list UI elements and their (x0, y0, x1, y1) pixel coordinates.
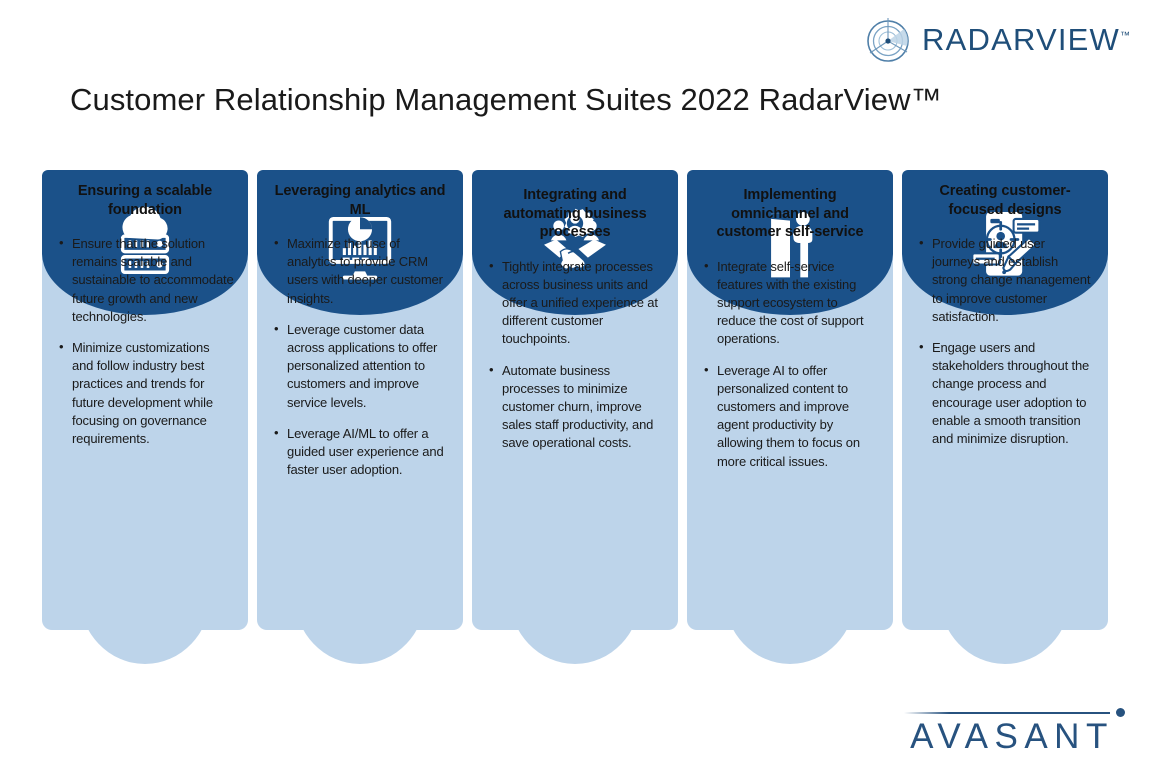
card-strip: Ensuring a scalable foundation Ensure th… (42, 170, 1112, 630)
card-bullet-list: Maximize the use of analytics to provide… (269, 235, 451, 479)
card-heading: Integrating and automating business proc… (486, 186, 664, 242)
list-item: Minimize customizations and follow indus… (58, 339, 234, 448)
card-bullet-list: Tightly integrate processes across busin… (484, 258, 666, 453)
card-implementing-omnichannel-self-service: Implementing omnichannel and customer se… (687, 170, 893, 630)
card-body: Integrating and automating business proc… (472, 170, 678, 630)
avasant-underline-dot-icon (898, 707, 1126, 719)
card-leveraging-analytics-and-ml: Leveraging analytics and ML Maximize the… (257, 170, 463, 630)
card-heading: Leveraging analytics and ML (271, 182, 449, 219)
card-body: Implementing omnichannel and customer se… (687, 170, 893, 630)
card-bullet-list: Integrate self-service features with the… (699, 258, 881, 471)
radar-target-icon (864, 16, 912, 64)
card-creating-customer-focused-designs: Creating customer-focused designs Provid… (902, 170, 1108, 630)
avasant-rule (904, 712, 1110, 714)
card-heading: Implementing omnichannel and customer se… (701, 186, 879, 242)
list-item: Automate business processes to minimize … (488, 362, 664, 453)
list-item: Ensure that the solution remains scalabl… (58, 235, 234, 326)
radarview-wordmark: RADARVIEW™ (922, 22, 1130, 58)
card-body: Leveraging analytics and ML Maximize the… (257, 170, 463, 630)
list-item: Provide guided user journeys and establi… (918, 235, 1094, 326)
avasant-wordmark: AVASANT (898, 719, 1126, 756)
card-integrating-automating-processes: Integrating and automating business proc… (472, 170, 678, 630)
slide-root: RADARVIEW™ Customer Relationship Managem… (0, 0, 1152, 768)
list-item: Leverage customer data across applicatio… (273, 321, 449, 412)
card-bullet-list: Ensure that the solution remains scalabl… (54, 235, 236, 448)
page-title: Customer Relationship Management Suites … (70, 82, 942, 118)
radarview-logo: RADARVIEW™ (864, 16, 1130, 64)
list-item: Tightly integrate processes across busin… (488, 258, 664, 349)
card-body: Ensuring a scalable foundation Ensure th… (42, 170, 248, 630)
card-ensuring-scalable-foundation: Ensuring a scalable foundation Ensure th… (42, 170, 248, 630)
list-item: Integrate self-service features with the… (703, 258, 879, 349)
list-item: Leverage AI to offer personalized conten… (703, 362, 879, 471)
list-item: Maximize the use of analytics to provide… (273, 235, 449, 308)
list-item: Engage users and stakeholders throughout… (918, 339, 1094, 448)
card-heading: Creating customer-focused designs (916, 182, 1094, 219)
card-body: Creating customer-focused designs Provid… (902, 170, 1108, 630)
avasant-dot (1116, 708, 1125, 717)
card-bullet-list: Provide guided user journeys and establi… (914, 235, 1096, 448)
radarview-tm: ™ (1120, 31, 1130, 42)
card-heading: Ensuring a scalable foundation (56, 182, 234, 219)
avasant-logo: AVASANT (898, 707, 1126, 756)
radarview-wordmark-text: RADARVIEW (922, 22, 1120, 57)
list-item: Leverage AI/ML to offer a guided user ex… (273, 425, 449, 480)
